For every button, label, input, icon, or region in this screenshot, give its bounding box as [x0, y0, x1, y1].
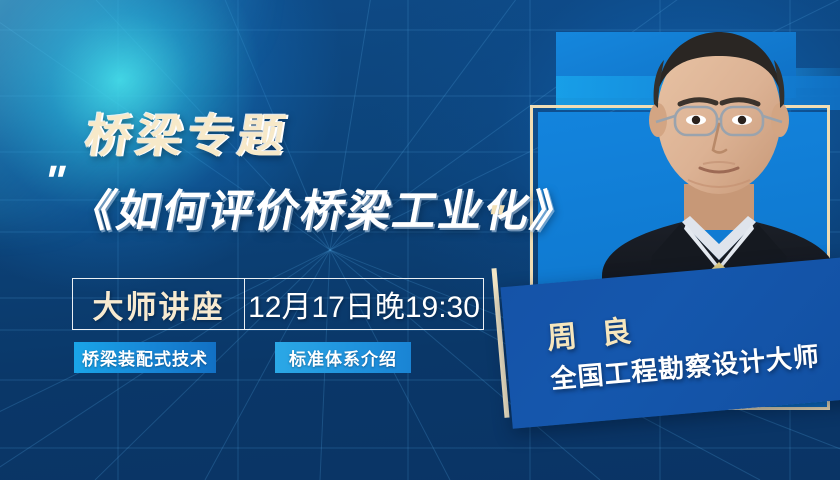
- topic-tag-2: 标准体系介绍: [275, 342, 411, 373]
- speaker-nameplate-content: 周 良 全国工程勘察设计大师: [500, 257, 840, 429]
- lecture-info-bar: 大师讲座 12月17日晚19:30: [72, 278, 484, 330]
- page-title: 桥梁专题: [81, 100, 295, 166]
- poster-canvas: 周 良 全国工程勘察设计大师 " 桥梁专题 《如何评价桥梁工业化》 " 大师讲座…: [0, 0, 840, 480]
- topic-tag-1: 桥梁装配式技术: [74, 342, 216, 373]
- lecture-datetime: 12月17日晚19:30: [245, 279, 483, 329]
- lecture-label: 大师讲座: [73, 279, 245, 329]
